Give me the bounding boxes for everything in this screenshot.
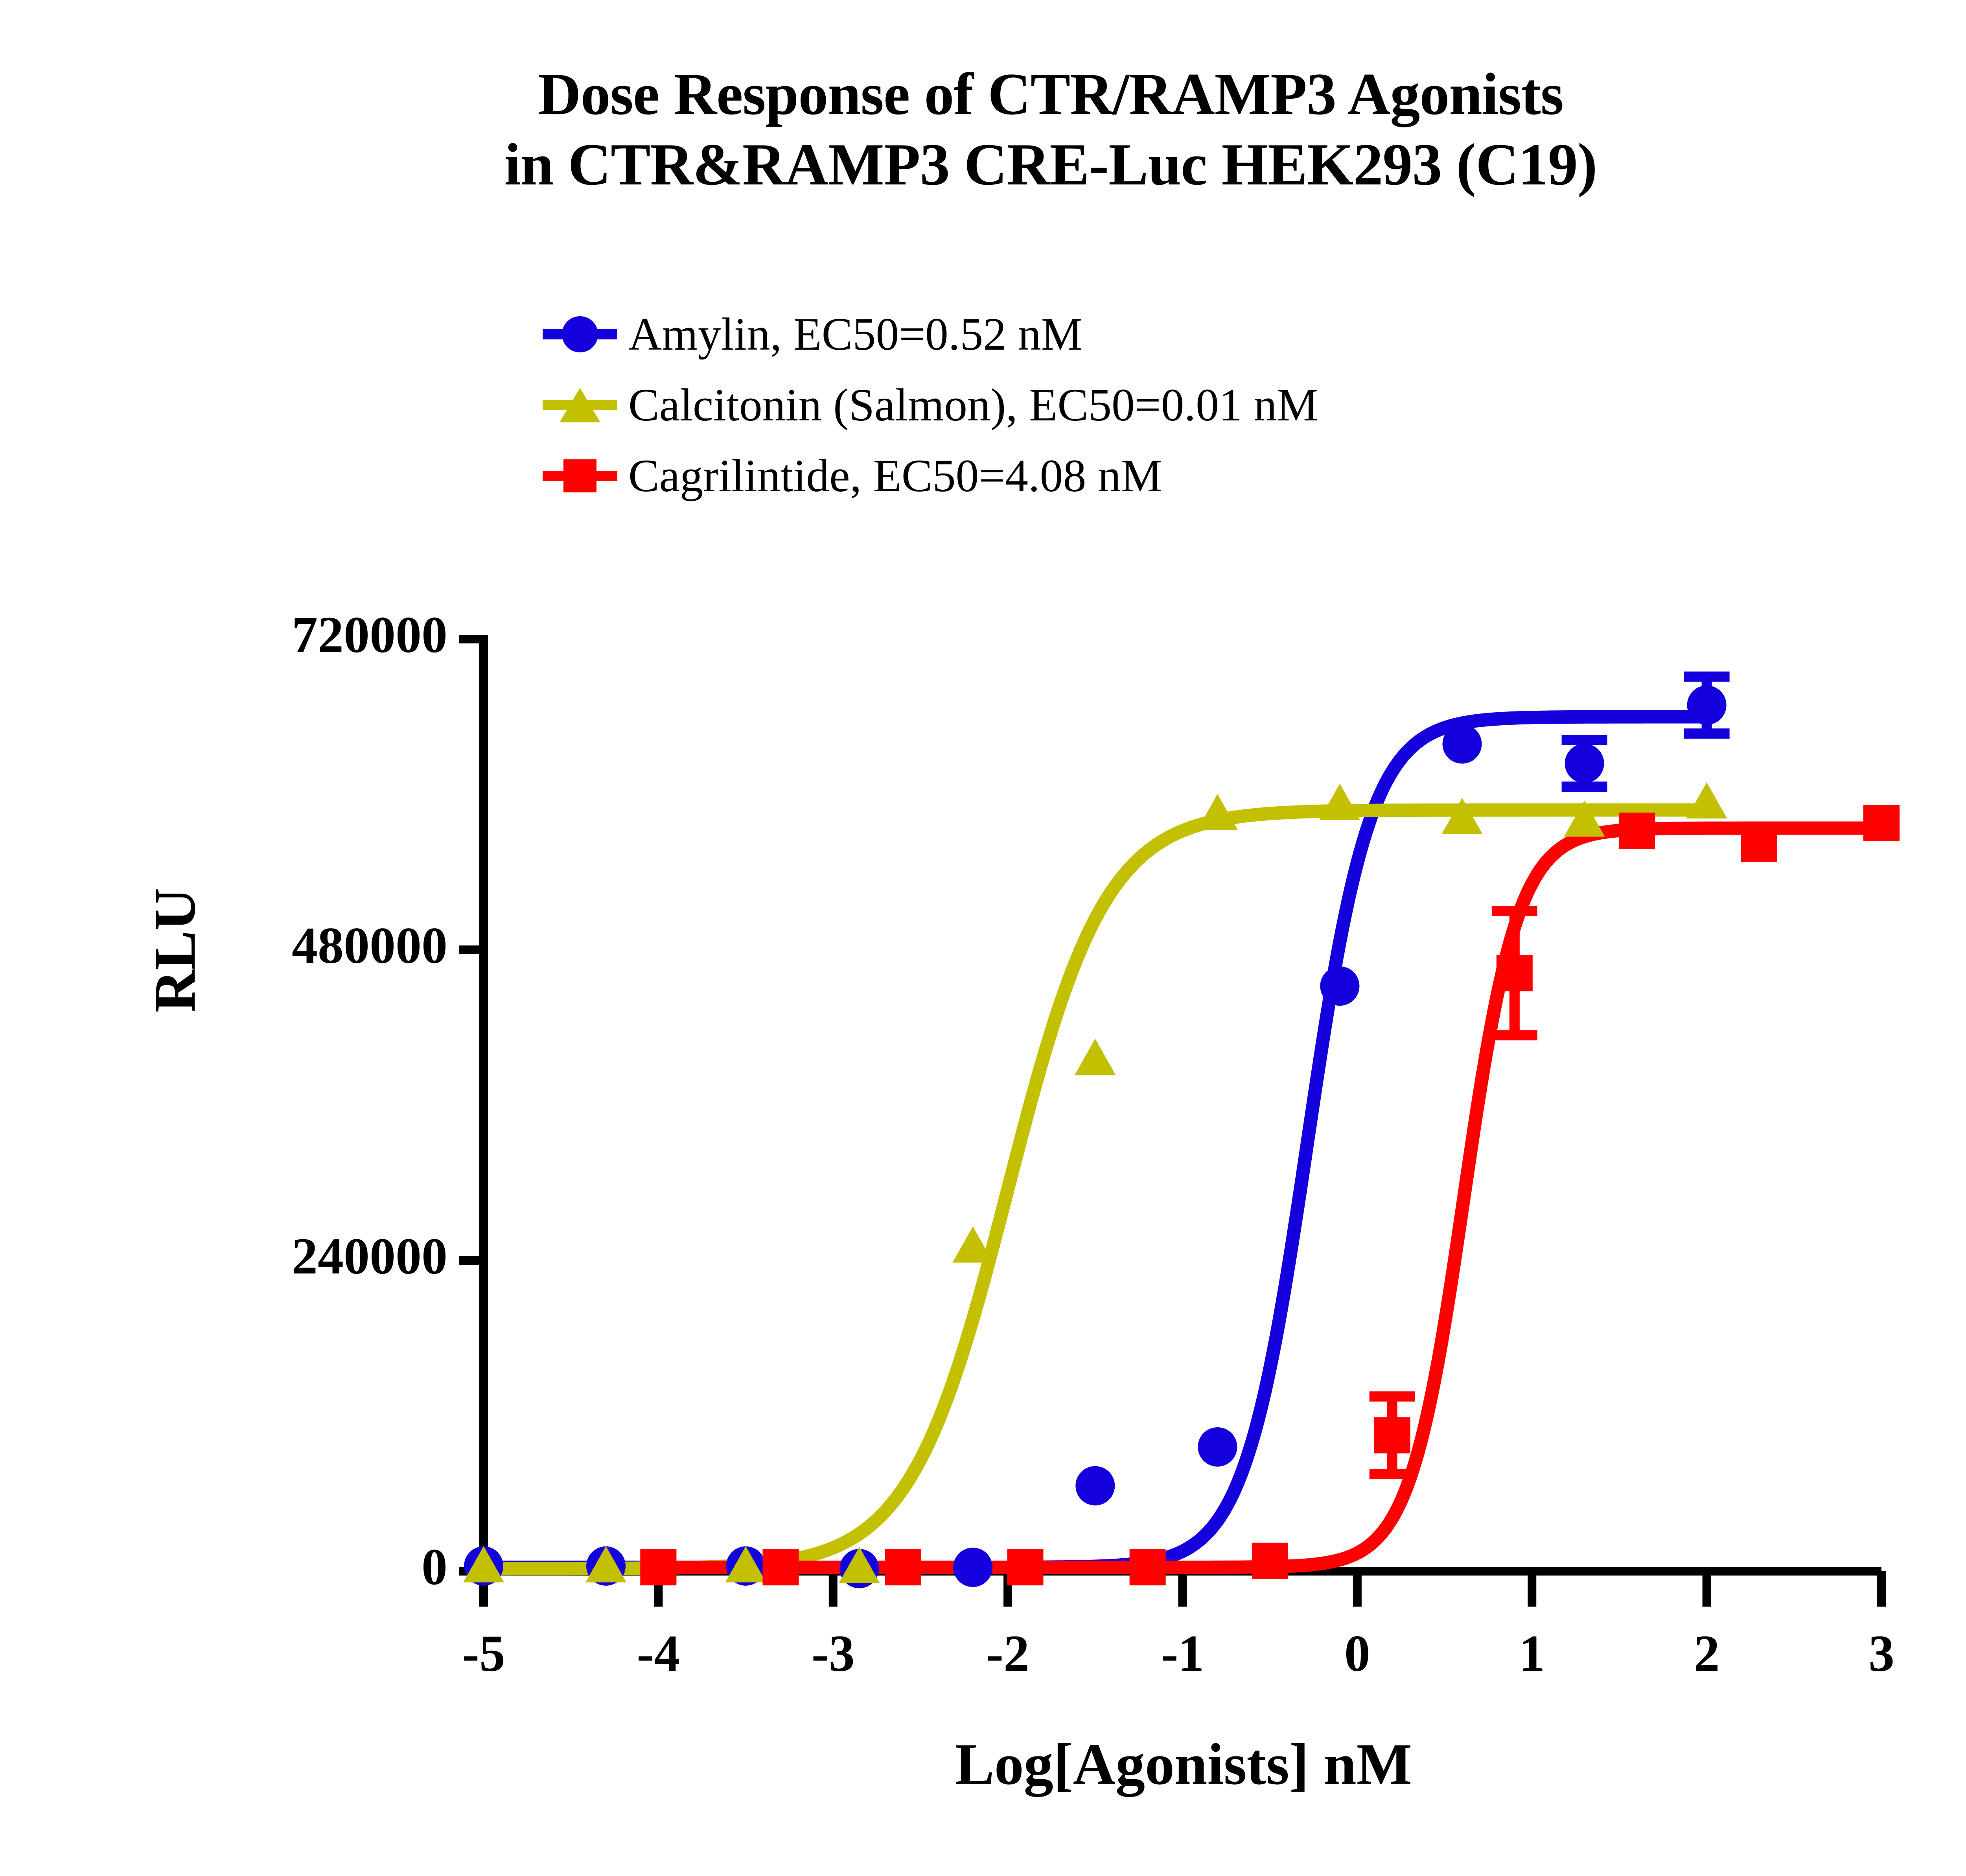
data-point-amylin[interactable] <box>1565 744 1604 783</box>
data-point-cagrilintide[interactable] <box>1007 1549 1044 1585</box>
data-point-cagrilintide[interactable] <box>1497 955 1533 991</box>
data-point-amylin[interactable] <box>1320 966 1359 1006</box>
fit-curve-amylin <box>484 717 1707 1568</box>
x-tick-label: -4 <box>580 1623 737 1683</box>
data-point-calcitonin-salmon[interactable] <box>1075 1039 1116 1075</box>
x-tick-label: 1 <box>1453 1623 1611 1683</box>
y-tick-label: 720000 <box>0 604 447 665</box>
data-point-cagrilintide[interactable] <box>762 1549 799 1585</box>
data-point-cagrilintide[interactable] <box>1741 826 1777 862</box>
data-point-cagrilintide[interactable] <box>1863 805 1900 841</box>
x-tick-label: -3 <box>755 1623 912 1683</box>
data-point-amylin[interactable] <box>953 1548 992 1587</box>
data-point-amylin[interactable] <box>1687 686 1727 725</box>
x-tick-label: -5 <box>405 1623 562 1683</box>
x-axis-title: Log[Agonists] nM <box>484 1730 1883 1798</box>
chart-root: Dose Response of CTR/RAMP3 Agonists in C… <box>0 0 1966 1876</box>
data-point-calcitonin-salmon[interactable] <box>1686 782 1727 818</box>
data-point-calcitonin-salmon[interactable] <box>1319 784 1360 820</box>
y-tick-label: 240000 <box>0 1226 447 1286</box>
y-tick-label: 0 <box>0 1537 447 1597</box>
data-point-amylin[interactable] <box>1075 1466 1115 1506</box>
data-point-cagrilintide[interactable] <box>1252 1543 1288 1579</box>
x-tick-label: 0 <box>1279 1623 1436 1683</box>
data-point-cagrilintide[interactable] <box>885 1549 921 1585</box>
data-point-cagrilintide[interactable] <box>1374 1417 1410 1453</box>
y-tick-label: 480000 <box>0 915 447 975</box>
data-point-cagrilintide[interactable] <box>1619 813 1655 849</box>
fit-curve-cagrilintide <box>658 828 1881 1568</box>
data-point-cagrilintide[interactable] <box>640 1549 676 1585</box>
x-tick-label: 3 <box>1803 1623 1960 1683</box>
data-point-amylin[interactable] <box>1443 724 1482 764</box>
x-tick-label: -2 <box>929 1623 1086 1683</box>
x-tick-label: 2 <box>1628 1623 1786 1683</box>
fit-curve-calcitonin-salmon <box>484 810 1707 1569</box>
x-tick-label: -1 <box>1104 1623 1261 1683</box>
data-point-amylin[interactable] <box>1198 1427 1237 1467</box>
data-point-cagrilintide[interactable] <box>1130 1549 1166 1585</box>
